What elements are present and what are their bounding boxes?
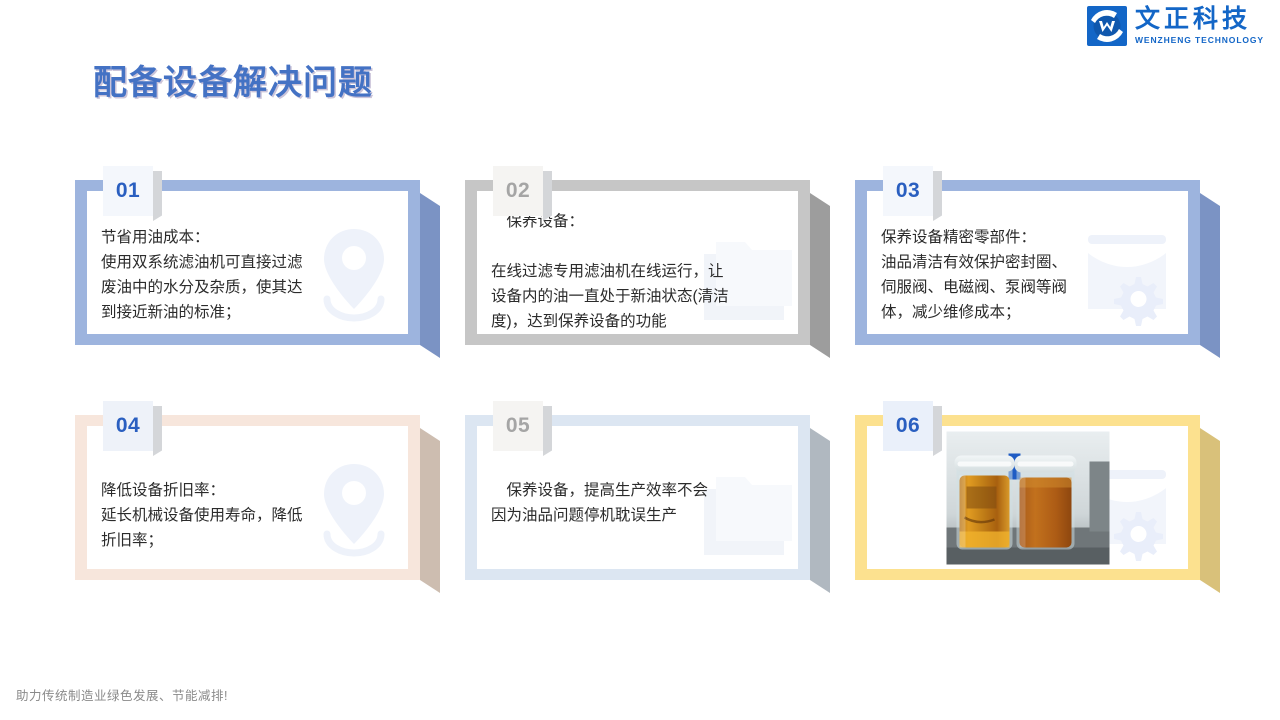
card-number-03: 03 bbox=[883, 166, 933, 216]
card-side-face-06 bbox=[1200, 428, 1220, 593]
page-title: 配备设备解决问题 bbox=[93, 55, 373, 104]
logo-company-name-cn: 文正科技 bbox=[1135, 7, 1251, 32]
card-side-face-04 bbox=[420, 428, 440, 593]
info-card-05[interactable]: 保养设备，提高生产效率不会 因为油品问题停机耽误生产 05 bbox=[465, 395, 830, 593]
card-side-face-01 bbox=[420, 193, 440, 358]
badge-side-face-05 bbox=[543, 406, 552, 456]
card-row-1: 节省用油成本： 使用双系统滤油机可直接过滤 废油中的水分及杂质，使其达 到接近新… bbox=[0, 160, 1280, 395]
card-side-face-02 bbox=[810, 193, 830, 358]
info-card-06[interactable]: 06 bbox=[855, 395, 1220, 593]
info-card-04[interactable]: 降低设备折旧率： 延长机械设备使用寿命，降低 折旧率； 04 bbox=[75, 395, 440, 593]
card-side-face-03 bbox=[1200, 193, 1220, 358]
footer-note: 助力传统制造业绿色发展、节能减排! bbox=[16, 685, 228, 704]
company-logo: 文正科技 WENZHENG TECHNOLOGY bbox=[1087, 6, 1264, 46]
badge-side-face-06 bbox=[933, 406, 942, 456]
card-number-06: 06 bbox=[883, 401, 933, 451]
card-number-04: 04 bbox=[103, 401, 153, 451]
info-card-02[interactable]: 保养设备： 在线过滤专用滤油机在线运行，让 设备内的油一直处于新油状态(清洁 度… bbox=[465, 160, 830, 358]
badge-side-face-04 bbox=[153, 406, 162, 456]
card-number-02: 02 bbox=[493, 166, 543, 216]
info-card-03[interactable]: 保养设备精密零部件： 油品清洁有效保护密封圈、 伺服阀、电磁阀、泵阀等阀 体，减… bbox=[855, 160, 1220, 358]
logo-company-name-en: WENZHENG TECHNOLOGY bbox=[1135, 36, 1264, 45]
card-number-01: 01 bbox=[103, 166, 153, 216]
oil-comparison-photo bbox=[946, 431, 1109, 564]
card-number-badge-05: 05 bbox=[493, 395, 543, 451]
badge-side-face-02 bbox=[543, 171, 552, 221]
card-side-face-05 bbox=[810, 428, 830, 593]
card-grid: 节省用油成本： 使用双系统滤油机可直接过滤 废油中的水分及杂质，使其达 到接近新… bbox=[0, 160, 1280, 630]
badge-side-face-03 bbox=[933, 171, 942, 221]
card-number-05: 05 bbox=[493, 401, 543, 451]
card-number-badge-04: 04 bbox=[103, 395, 153, 451]
logo-mark-icon bbox=[1087, 6, 1127, 46]
card-number-badge-03: 03 bbox=[883, 160, 933, 216]
badge-side-face-01 bbox=[153, 171, 162, 221]
info-card-01[interactable]: 节省用油成本： 使用双系统滤油机可直接过滤 废油中的水分及杂质，使其达 到接近新… bbox=[75, 160, 440, 358]
card-row-2: 降低设备折旧率： 延长机械设备使用寿命，降低 折旧率； 04 bbox=[0, 395, 1280, 630]
card-number-badge-01: 01 bbox=[103, 160, 153, 216]
card-number-badge-06: 06 bbox=[883, 395, 933, 451]
card-number-badge-02: 02 bbox=[493, 160, 543, 216]
